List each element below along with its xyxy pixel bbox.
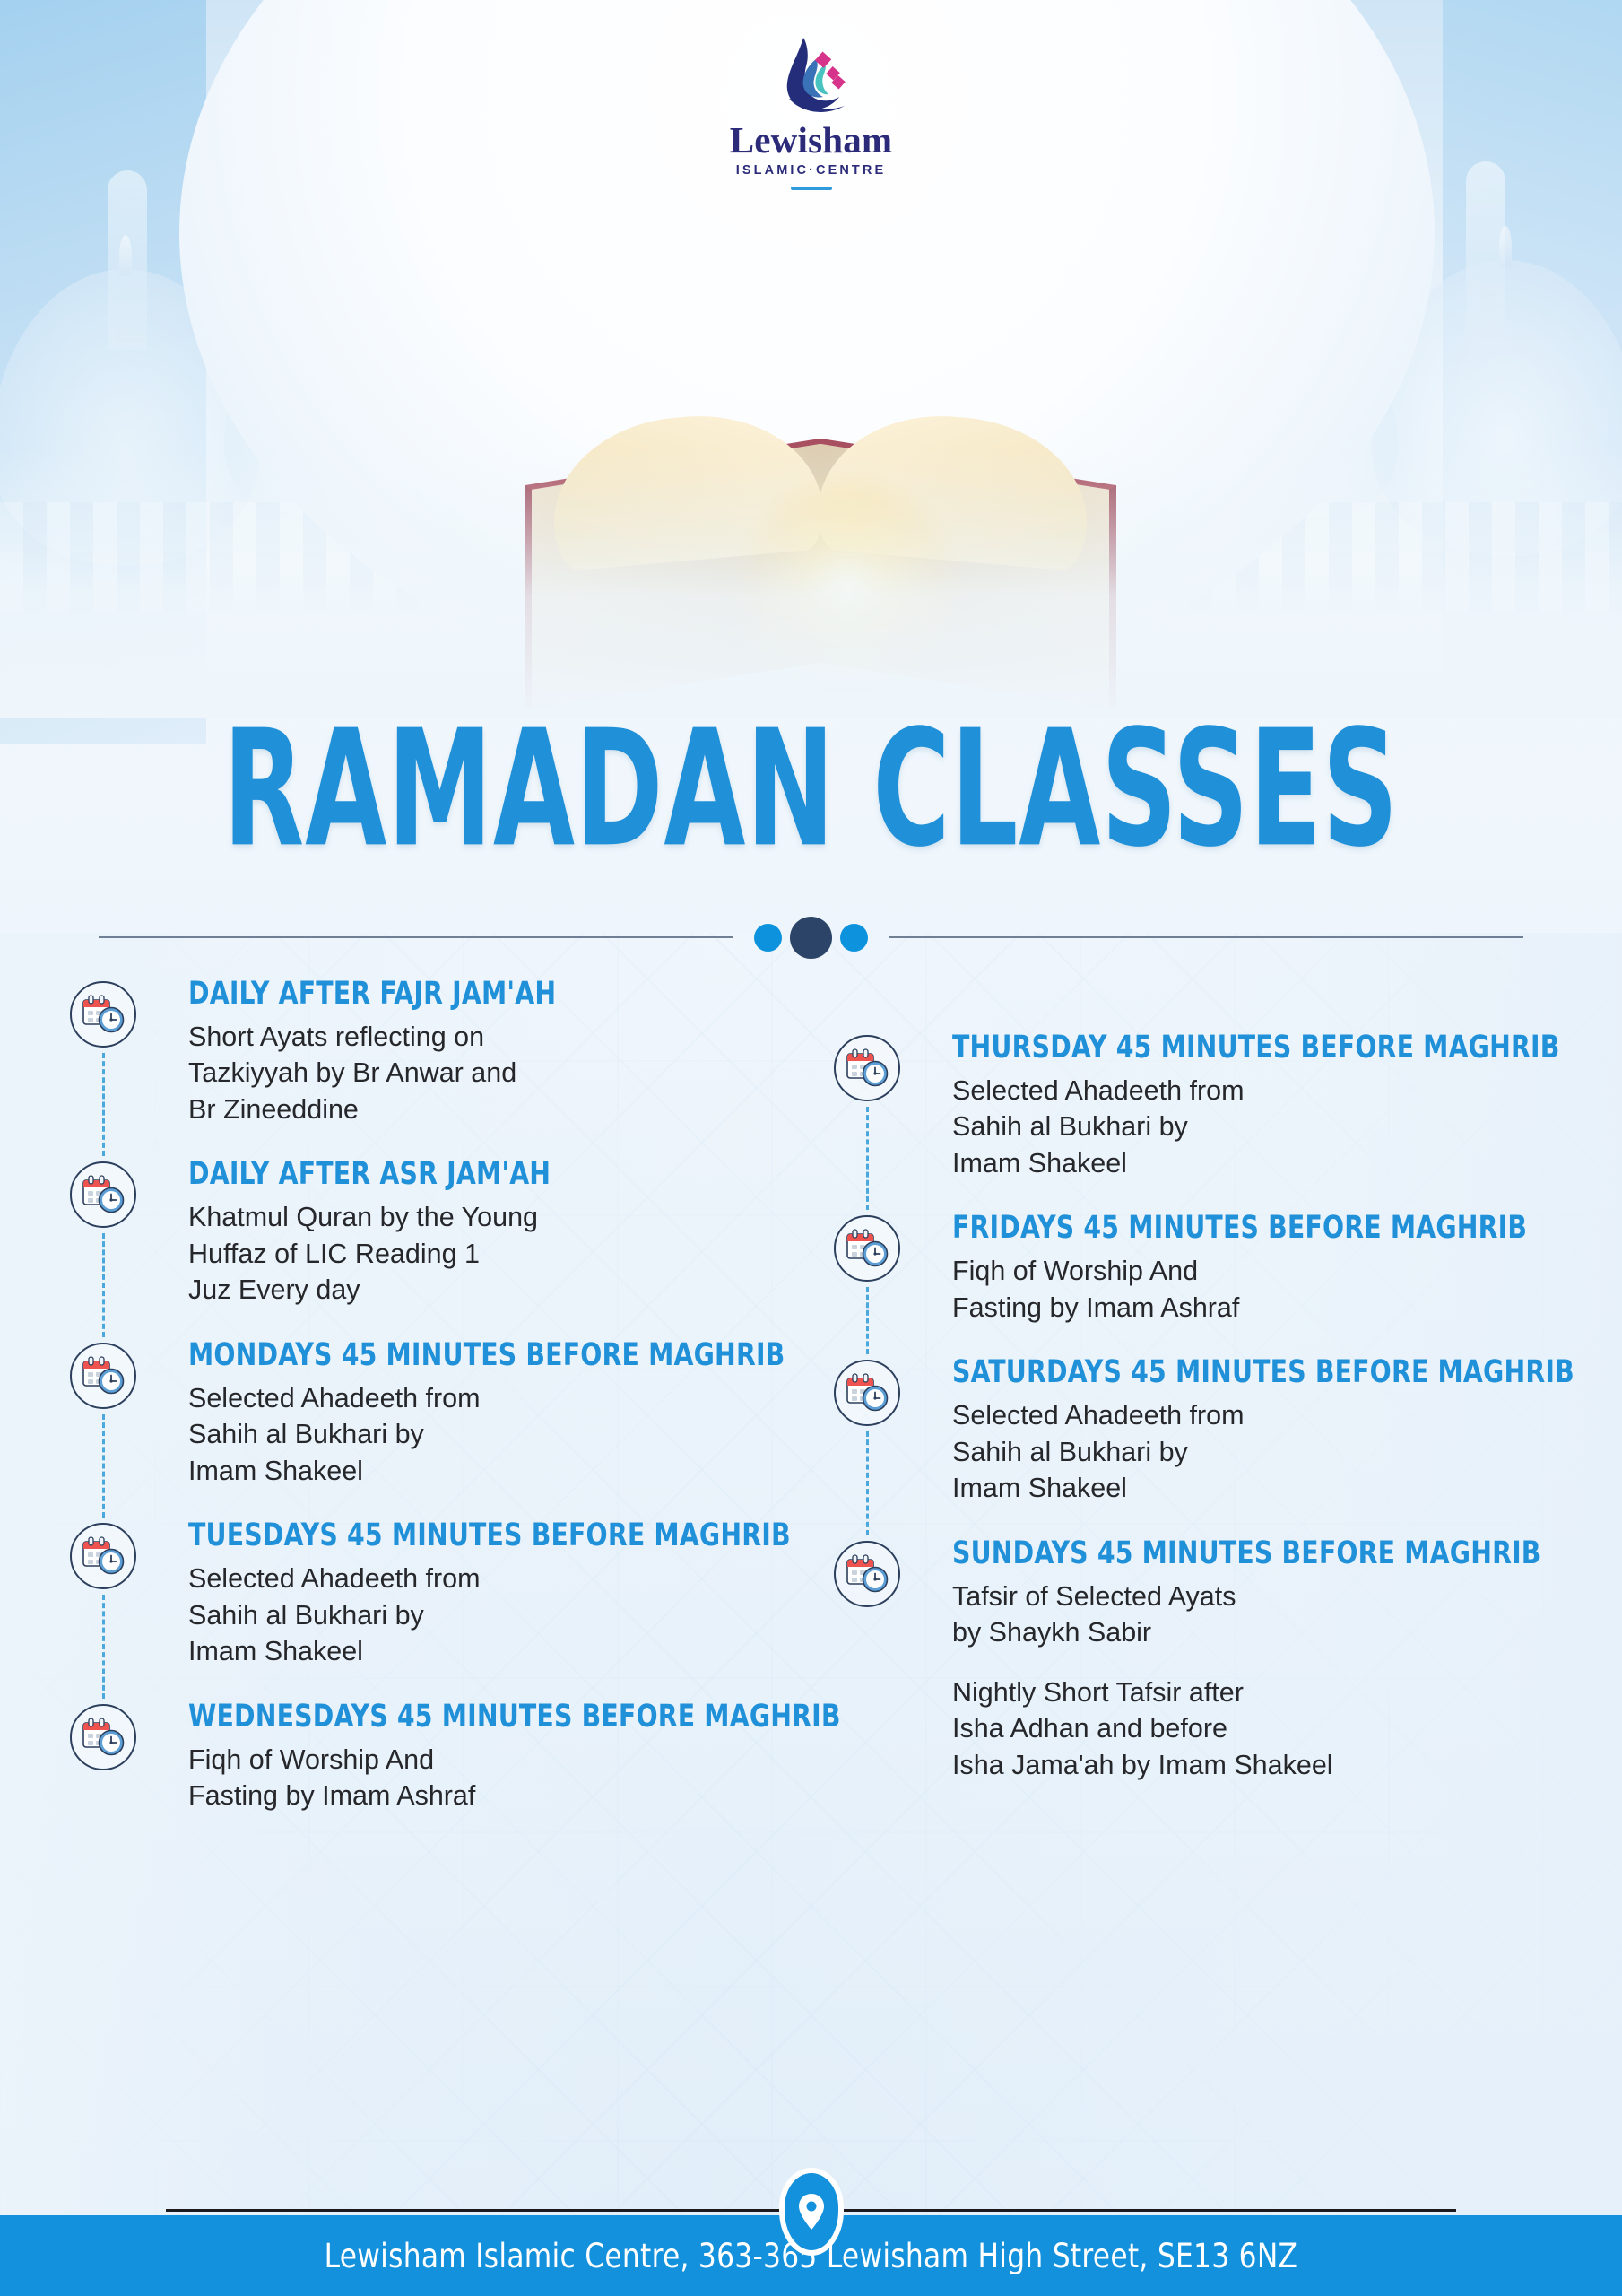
- schedule-entry-line: Fiqh of Worship And: [188, 1742, 787, 1779]
- schedule-entry-line: Imam Shakeel: [952, 1145, 1587, 1182]
- calendar-clock-icon: [70, 981, 136, 1048]
- schedule-entry-line: Fasting by Imam Ashraf: [188, 1778, 787, 1814]
- calendar-clock-icon: [70, 1704, 136, 1770]
- schedule-entry-title: DAILY AFTER ASR JAM'AH: [188, 1158, 727, 1191]
- schedule-entry-line: Sahih al Bukhari by: [952, 1434, 1587, 1471]
- calendar-clock-icon-glyph: [845, 1046, 889, 1091]
- timeline-dashed-connector: [866, 1107, 869, 1210]
- location-pin-badge: [779, 2168, 844, 2256]
- schedule-entry-title: MONDAYS 45 MINUTES BEFORE MAGHRIB: [188, 1339, 727, 1372]
- calendar-clock-icon-glyph: [845, 1552, 889, 1596]
- schedule-entry-line: Sahih al Bukhari by: [188, 1416, 787, 1453]
- schedule-entry-title: DAILY AFTER FAJR JAM'AH: [188, 978, 727, 1011]
- logo-subtitle: ISLAMIC·CENTRE: [677, 163, 946, 178]
- schedule-entry-line: Nightly Short Tafsir after: [952, 1674, 1587, 1711]
- schedule-entry-line: Selected Ahadeeth from: [952, 1397, 1587, 1434]
- schedule-entry-body-secondary: Nightly Short Tafsir afterIsha Adhan and…: [952, 1674, 1587, 1784]
- schedule-entry-line: Tafsir of Selected Ayats: [952, 1578, 1587, 1615]
- schedule-entry-line: Short Ayats reflecting on: [188, 1019, 787, 1056]
- calendar-clock-icon: [834, 1035, 900, 1101]
- schedule-entry-body: Selected Ahadeeth fromSahih al Bukhari b…: [952, 1073, 1587, 1182]
- schedule-entry-title: FRIDAYS 45 MINUTES BEFORE MAGHRIB: [952, 1212, 1523, 1245]
- icon-circle-border: [70, 1704, 136, 1770]
- schedule-entry-line: Sahih al Bukhari by: [952, 1109, 1587, 1145]
- calendar-clock-icon-glyph: [81, 1172, 126, 1217]
- timeline-dashed-connector: [102, 1414, 105, 1518]
- calendar-clock-icon: [834, 1215, 900, 1282]
- timeline-dashed-connector: [102, 1233, 105, 1337]
- schedule-entry: TUESDAYS 45 MINUTES BEFORE MAGHRIBSelect…: [70, 1519, 787, 1669]
- divider-line-right: [889, 936, 1523, 938]
- divider-dot-large: [790, 917, 832, 959]
- schedule-entry-body: Selected Ahadeeth fromSahih al Bukhari b…: [188, 1380, 787, 1490]
- schedule-entry-line: Sahih al Bukhari by: [188, 1597, 787, 1634]
- divider-line-left: [99, 936, 733, 938]
- schedule-entry-line: Fasting by Imam Ashraf: [952, 1290, 1587, 1326]
- timeline-dashed-connector: [102, 1053, 105, 1156]
- schedule-entry-body: Fiqh of Worship AndFasting by Imam Ashra…: [188, 1742, 787, 1814]
- schedule-entry-body: Khatmul Quran by the YoungHuffaz of LIC …: [188, 1199, 787, 1309]
- schedule-entry: FRIDAYS 45 MINUTES BEFORE MAGHRIBFiqh of…: [834, 1212, 1587, 1326]
- timeline-dashed-connector: [866, 1287, 869, 1354]
- calendar-clock-icon-glyph: [81, 1353, 126, 1398]
- schedule-entry: SATURDAYS 45 MINUTES BEFORE MAGHRIBSelec…: [834, 1356, 1587, 1506]
- schedule-entry: WEDNESDAYS 45 MINUTES BEFORE MAGHRIBFiqh…: [70, 1700, 787, 1814]
- calendar-clock-icon: [70, 1161, 136, 1228]
- calendar-clock-icon-glyph: [845, 1370, 889, 1415]
- calendar-clock-icon: [834, 1541, 900, 1607]
- poster-root: Lewisham ISLAMIC·CENTRE RAMADAN CLASSES …: [0, 0, 1622, 2296]
- icon-circle-border: [834, 1035, 900, 1101]
- schedule-right-column: THURSDAY 45 MINUTES BEFORE MAGHRIBSelect…: [834, 1031, 1587, 1783]
- icon-circle-border: [834, 1215, 900, 1282]
- schedule-entry: SUNDAYS 45 MINUTES BEFORE MAGHRIBTafsir …: [834, 1537, 1587, 1784]
- schedule-entry-line: Isha Adhan and before: [952, 1710, 1587, 1747]
- calendar-clock-icon-glyph: [81, 992, 126, 1037]
- icon-circle-border: [70, 1161, 136, 1228]
- location-pin-icon: [785, 2173, 838, 2250]
- schedule-entry-line: Imam Shakeel: [952, 1470, 1587, 1507]
- calendar-clock-icon-glyph: [81, 1534, 126, 1578]
- schedule-entry-line: Tazkiyyah by Br Anwar and: [188, 1055, 787, 1091]
- schedule-entry-line: Juz Every day: [188, 1272, 787, 1309]
- hero-fade-overlay: [0, 448, 1622, 717]
- timeline-dashed-connector: [102, 1595, 105, 1699]
- schedule-entry: DAILY AFTER ASR JAM'AHKhatmul Quran by t…: [70, 1158, 787, 1308]
- schedule-entry-line: Br Zineeddine: [188, 1091, 787, 1128]
- icon-circle-border: [834, 1541, 900, 1607]
- calendar-clock-icon: [70, 1523, 136, 1589]
- schedule-entry: DAILY AFTER FAJR JAM'AHShort Ayats refle…: [70, 978, 787, 1127]
- page-title-text: RAMADAN CLASSES: [223, 715, 1399, 863]
- location-pin-glyph: [796, 2192, 827, 2231]
- schedule-entry-line: Fiqh of Worship And: [952, 1253, 1587, 1290]
- schedule-entry-body: Short Ayats reflecting onTazkiyyah by Br…: [188, 1019, 787, 1128]
- schedule-entry-body: Selected Ahadeeth fromSahih al Bukhari b…: [188, 1561, 787, 1670]
- divider-dots: [733, 917, 889, 959]
- calendar-clock-icon: [834, 1360, 900, 1426]
- divider-dot-small-right: [840, 924, 868, 952]
- schedule-entry-line: Isha Jama'ah by Imam Shakeel: [952, 1747, 1587, 1784]
- icon-circle-border: [70, 981, 136, 1048]
- schedule-entry-line: Selected Ahadeeth from: [952, 1073, 1587, 1109]
- logo-wordmark: Lewisham: [677, 122, 946, 159]
- schedule-entry-body: Fiqh of Worship AndFasting by Imam Ashra…: [952, 1253, 1587, 1326]
- logo-underline: [791, 187, 832, 190]
- timeline-dashed-connector: [866, 1431, 869, 1535]
- schedule-entry: THURSDAY 45 MINUTES BEFORE MAGHRIBSelect…: [834, 1031, 1587, 1181]
- schedule-entry: MONDAYS 45 MINUTES BEFORE MAGHRIBSelecte…: [70, 1339, 787, 1489]
- schedule-entry-title: THURSDAY 45 MINUTES BEFORE MAGHRIB: [952, 1031, 1523, 1065]
- divider-dot-small-left: [754, 924, 782, 952]
- schedule-entry-line: by Shaykh Sabir: [952, 1614, 1587, 1651]
- schedule-entry-title: TUESDAYS 45 MINUTES BEFORE MAGHRIB: [188, 1519, 727, 1552]
- icon-circle-border: [70, 1343, 136, 1409]
- schedule-entry-line: Selected Ahadeeth from: [188, 1561, 787, 1597]
- calendar-clock-icon: [70, 1343, 136, 1409]
- schedule-entry-title: WEDNESDAYS 45 MINUTES BEFORE MAGHRIB: [188, 1700, 727, 1734]
- schedule-entry-line: Khatmul Quran by the Young: [188, 1199, 787, 1236]
- icon-circle-border: [834, 1360, 900, 1426]
- calendar-clock-icon-glyph: [845, 1226, 889, 1271]
- lewisham-islamic-centre-logo-icon: [762, 34, 861, 120]
- schedule-entry-line: Selected Ahadeeth from: [188, 1380, 787, 1417]
- schedule-entry-line: Huffaz of LIC Reading 1: [188, 1236, 787, 1273]
- page-title: RAMADAN CLASSES: [0, 726, 1622, 852]
- divider: [99, 917, 1523, 958]
- icon-circle-border: [70, 1523, 136, 1589]
- schedule-entry-line: Imam Shakeel: [188, 1633, 787, 1670]
- calendar-clock-icon-glyph: [81, 1715, 126, 1760]
- schedule-entry-line: Imam Shakeel: [188, 1453, 787, 1490]
- logo: Lewisham ISLAMIC·CENTRE: [677, 34, 946, 190]
- schedule-left-column: DAILY AFTER FAJR JAM'AHShort Ayats refle…: [70, 978, 787, 1814]
- schedule-entry-body: Selected Ahadeeth fromSahih al Bukhari b…: [952, 1397, 1587, 1507]
- schedule-entry-title: SATURDAYS 45 MINUTES BEFORE MAGHRIB: [952, 1356, 1523, 1389]
- schedule-entry-body: Tafsir of Selected Ayatsby Shaykh Sabir: [952, 1578, 1587, 1651]
- schedule-entry-title: SUNDAYS 45 MINUTES BEFORE MAGHRIB: [952, 1537, 1523, 1570]
